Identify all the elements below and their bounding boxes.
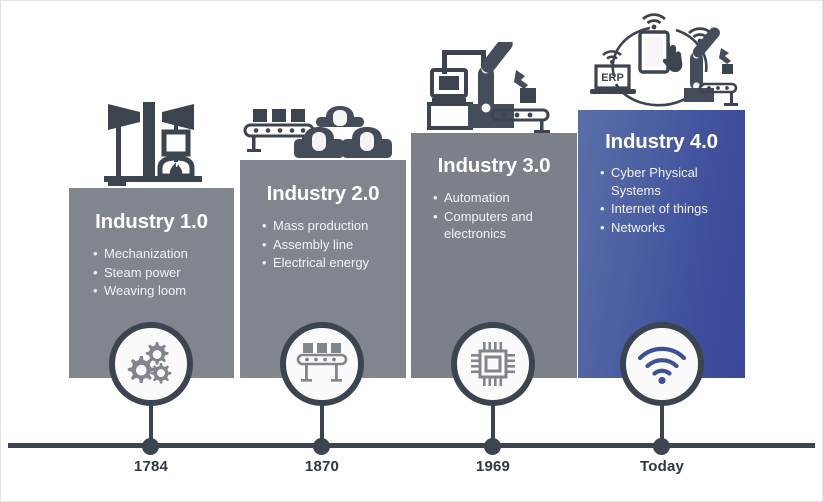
stage-title-industry-4: Industry 4.0: [578, 130, 745, 154]
stage-title-industry-1: Industry 1.0: [69, 210, 234, 234]
badge-cpu: [451, 322, 535, 406]
list-item: Internet of things: [600, 200, 739, 218]
iot-erp-robot-icon: ERP: [588, 4, 740, 112]
badge-conveyor: [280, 322, 364, 406]
gears-icon: [126, 339, 176, 389]
wifi-icon: [636, 343, 688, 385]
timeline-year-2: 1870: [281, 458, 363, 475]
list-item: Steam power: [93, 264, 226, 282]
list-item: Cyber Physical Systems: [600, 164, 739, 199]
list-item: Electrical energy: [262, 254, 400, 272]
timeline-year-4: Today: [621, 458, 703, 475]
stage-bullets-industry-4: Cyber Physical Systems Internet of thing…: [600, 164, 739, 237]
list-item: Weaving loom: [93, 282, 226, 300]
stage-bullets-industry-3: Automation Computers and electronics: [433, 189, 571, 244]
list-item: Networks: [600, 219, 739, 237]
list-item: Assembly line: [262, 236, 400, 254]
badge-gears: [109, 322, 193, 406]
erp-label: ERP: [601, 72, 624, 84]
list-item: Mechanization: [93, 245, 226, 263]
conveyor-belt-icon: [296, 341, 348, 387]
timeline-year-1: 1784: [110, 458, 192, 475]
timeline-axis: [8, 443, 815, 448]
robot-arm-computer-icon: [424, 42, 562, 134]
assembly-line-cars-icon: [242, 103, 392, 161]
connector-stem-4: [660, 404, 664, 442]
stage-bullets-industry-2: Mass production Assembly line Electrical…: [262, 217, 400, 273]
badge-wifi: [620, 322, 704, 406]
stage-title-industry-3: Industry 3.0: [411, 154, 577, 178]
connector-stem-1: [149, 404, 153, 442]
list-item: Computers and electronics: [433, 208, 571, 243]
stage-title-industry-2: Industry 2.0: [240, 182, 406, 206]
timeline-year-3: 1969: [452, 458, 534, 475]
infographic-canvas: ERP: [0, 0, 823, 502]
stage-bullets-industry-1: Mechanization Steam power Weaving loom: [93, 245, 226, 301]
list-item: Mass production: [262, 217, 400, 235]
cpu-chip-icon: [469, 340, 517, 388]
steam-engine-icon: [96, 88, 206, 190]
connector-stem-3: [491, 404, 495, 442]
list-item: Automation: [433, 189, 571, 207]
connector-stem-2: [320, 404, 324, 442]
